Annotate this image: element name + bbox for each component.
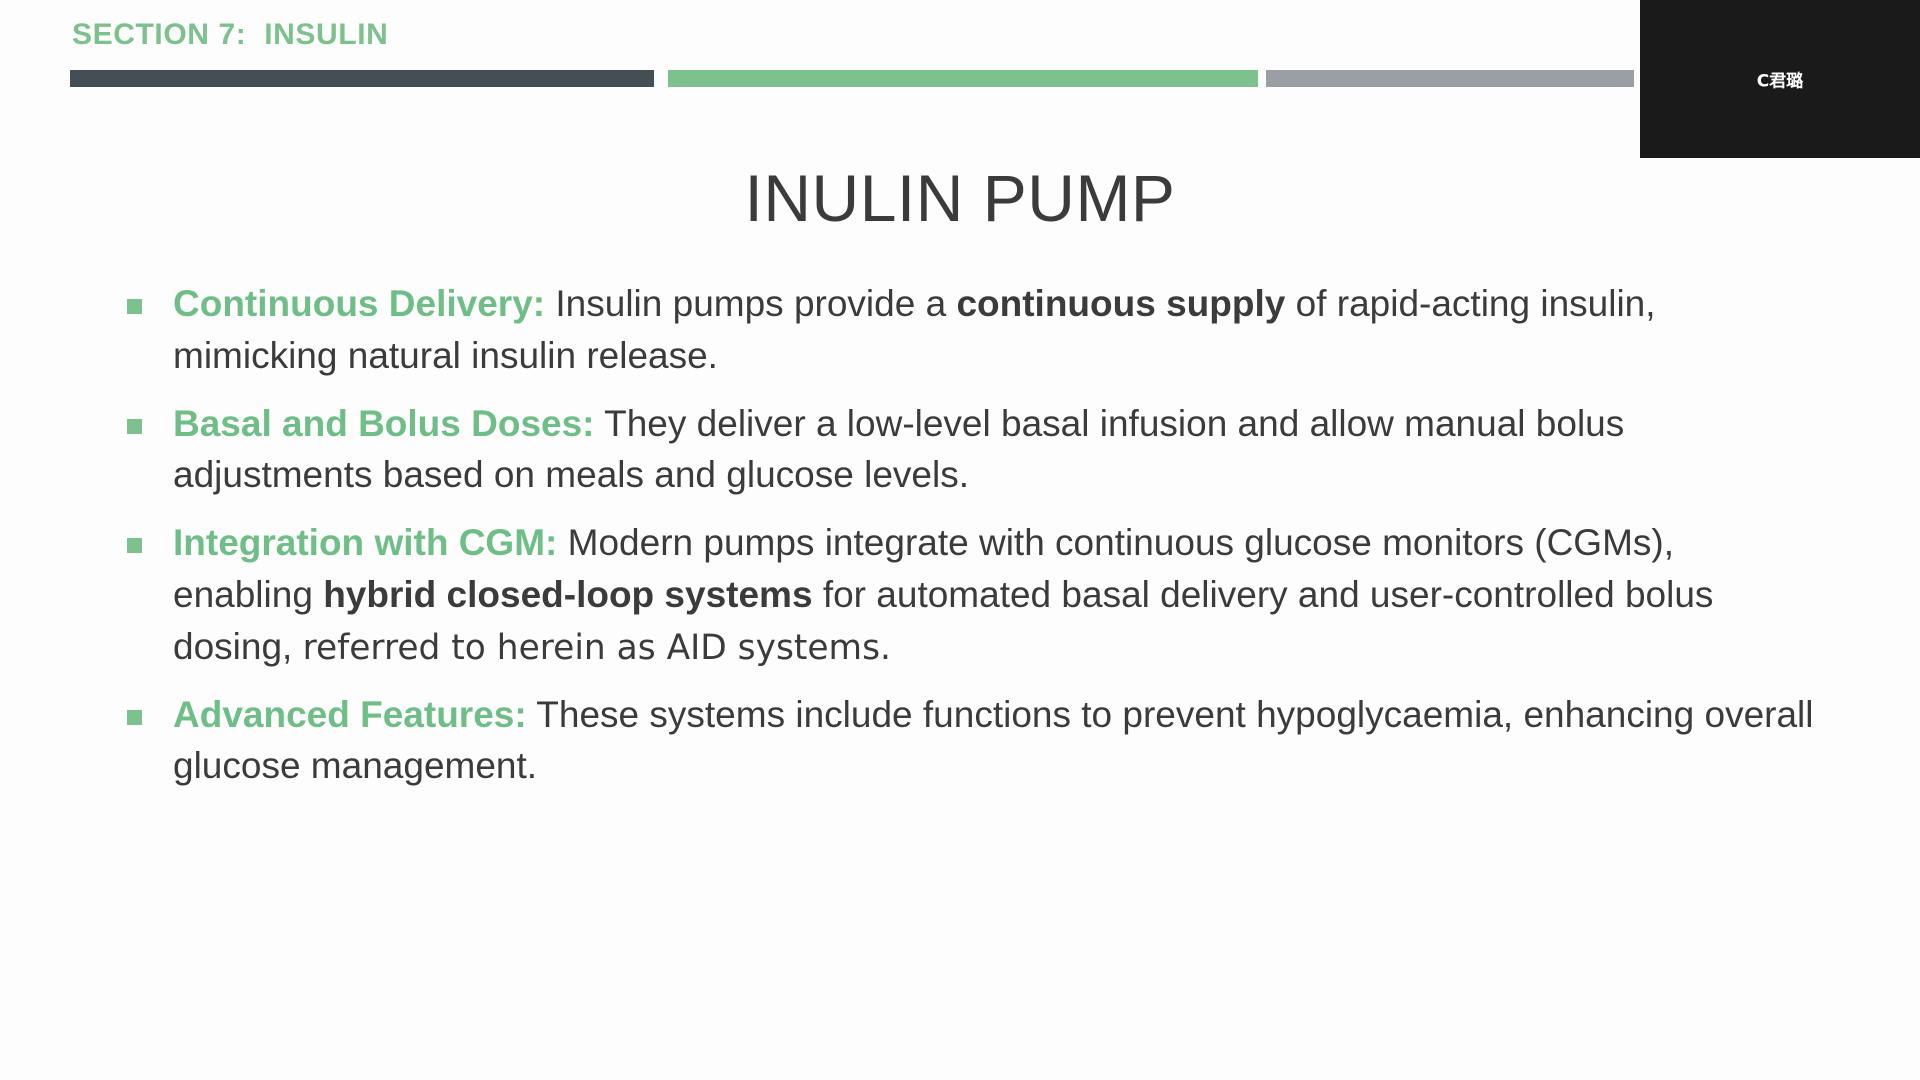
header-rule-green — [668, 70, 1258, 87]
square-bullet-icon — [127, 538, 142, 553]
bullet-list: Continuous Delivery: Insulin pumps provi… — [118, 278, 1818, 808]
participant-name-label: C君璐 — [1640, 67, 1920, 92]
header-rule-dark — [70, 70, 654, 87]
slide-title: INULIN PUMP — [0, 160, 1920, 236]
bullet-item: Advanced Features: These systems include… — [118, 689, 1818, 793]
bullet-item: Continuous Delivery: Insulin pumps provi… — [118, 278, 1818, 382]
square-bullet-icon — [127, 299, 142, 314]
header-rule-gray — [1266, 70, 1634, 87]
bullet-item: Integration with CGM: Modern pumps integ… — [118, 517, 1818, 672]
bullet-emphasis: hybrid closed-loop systems — [323, 574, 812, 615]
bullet-lead: Basal and Bolus Doses: — [173, 403, 595, 444]
bullet-lead: Integration with CGM: — [173, 522, 557, 563]
bullet-item: Basal and Bolus Doses: They deliver a lo… — [118, 398, 1818, 502]
bullet-lead: Advanced Features: — [173, 694, 527, 735]
square-bullet-icon — [127, 710, 142, 725]
bullet-lead: Continuous Delivery: — [173, 283, 545, 324]
video-participant-tile[interactable]: C君璐 — [1640, 0, 1920, 158]
presentation-slide: SECTION 7: INSULIN C君璐 INULIN PUMP Conti… — [0, 0, 1920, 1080]
bullet-body-alt: referred to herein as AID systems. — [303, 628, 891, 668]
square-bullet-icon — [127, 419, 142, 434]
bullet-body: Insulin pumps provide a — [545, 283, 956, 324]
section-label: SECTION 7: INSULIN — [72, 18, 388, 52]
bullet-emphasis: continuous supply — [956, 283, 1285, 324]
